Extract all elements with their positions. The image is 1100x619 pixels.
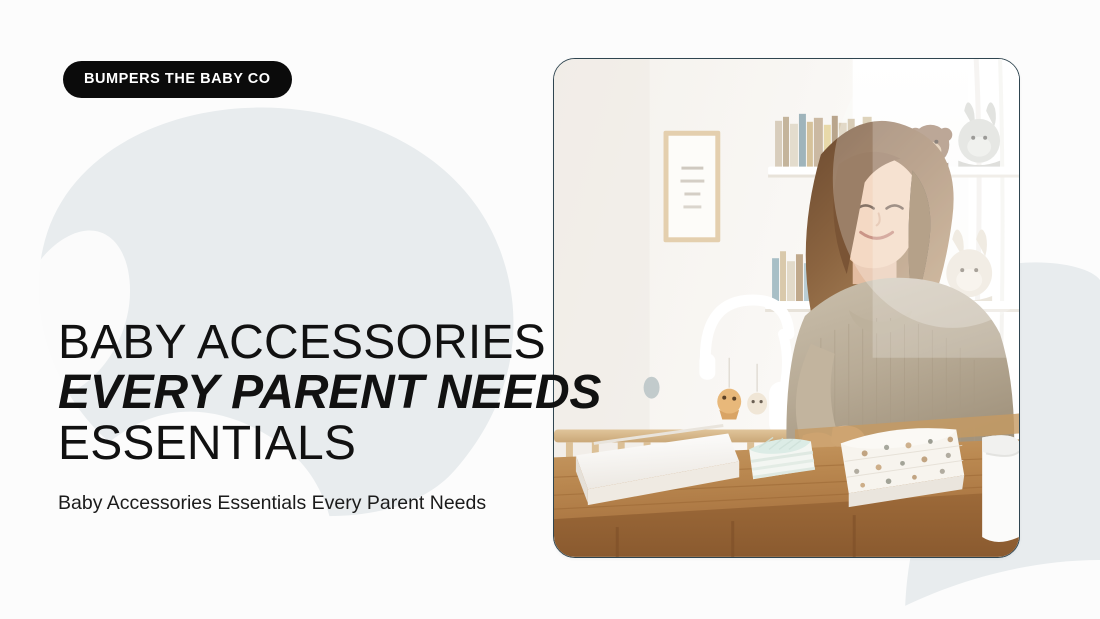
headline-line-2-emphasis: EVERY PARENT NEEDS bbox=[58, 368, 558, 417]
hero-photo bbox=[553, 58, 1020, 558]
hero-subtitle: Baby Accessories Essentials Every Parent… bbox=[58, 490, 488, 518]
hero-text-block: BABY ACCESSORIES EVERY PARENT NEEDS ESSE… bbox=[58, 318, 558, 518]
headline-line-1: BABY ACCESSORIES bbox=[58, 318, 558, 367]
framed-art bbox=[664, 131, 721, 243]
decor-blob-right-sweep bbox=[880, 560, 1100, 619]
headline-line-3: ESSENTIALS bbox=[58, 419, 558, 468]
hero-banner: BUMPERS THE BABY CO BABY ACCESSORIES EVE… bbox=[0, 0, 1100, 619]
brand-badge[interactable]: BUMPERS THE BABY CO bbox=[63, 61, 292, 98]
diaper-pail bbox=[982, 435, 1019, 542]
page-title: BABY ACCESSORIES EVERY PARENT NEEDS ESSE… bbox=[58, 318, 558, 468]
mobile-toy-small bbox=[747, 393, 767, 415]
brand-badge-label: BUMPERS THE BABY CO bbox=[84, 72, 271, 87]
